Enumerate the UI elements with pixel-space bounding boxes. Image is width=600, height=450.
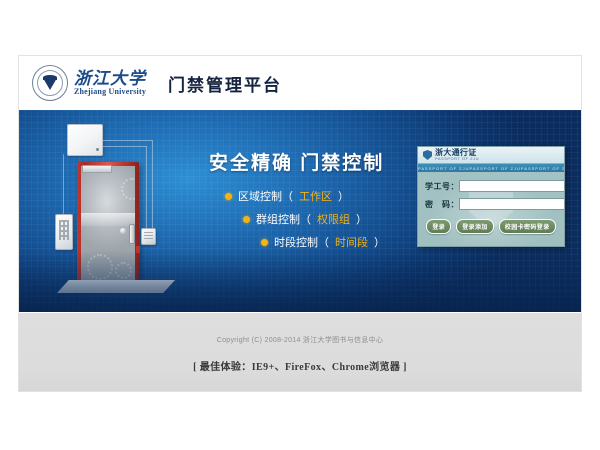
feature-tail: ） <box>356 211 367 227</box>
card-reader-icon <box>141 228 156 245</box>
keypad-reader-icon <box>55 214 73 250</box>
copyright-text: Copyright (C) 2008-2014 浙江大学图书与信息中心 <box>19 313 581 345</box>
feature-highlight: 时间段 <box>335 234 368 250</box>
wire-down-2 <box>146 146 148 234</box>
feature-item-area: 区域控制（工作区） <box>225 188 385 204</box>
banner-slogan: 安全精确 门禁控制 <box>209 148 384 175</box>
feature-item-timeslot: 时段控制（时间段） <box>261 234 385 250</box>
door-closer <box>82 165 112 173</box>
seal-bird-glyph <box>43 78 57 90</box>
university-logo: 浙江大学 Zhejiang University <box>32 65 146 101</box>
feature-list: 区域控制（工作区） 群组控制（权限组） 时段控制（时间段） <box>225 188 385 250</box>
page-title: 门禁管理平台 <box>168 71 282 96</box>
university-name-block: 浙江大学 Zhejiang University <box>74 70 146 97</box>
university-name-en: Zhejiang University <box>74 87 146 96</box>
feature-text: 群组控制（ <box>256 211 311 227</box>
feature-highlight: 权限组 <box>317 211 350 227</box>
login-button[interactable]: 登录 <box>426 219 451 234</box>
page-container: 浙江大学 Zhejiang University 门禁管理平台 <box>18 55 582 392</box>
door-leaf <box>81 166 135 284</box>
strip-text: PASSPORT OF ZJU <box>521 166 564 171</box>
browser-support-note: [ 最佳体验：IE9+、FireFox、Chrome浏览器 ] <box>19 358 581 373</box>
university-name-cn: 浙江大学 <box>74 70 146 88</box>
feature-tail: ） <box>338 188 349 204</box>
field-row-userid: 学工号： <box>425 180 557 192</box>
strip-text: PASSPORT OF ZJU <box>469 166 520 171</box>
userid-label: 学工号： <box>425 181 459 192</box>
zju-seal-icon <box>32 65 68 101</box>
floor-platform <box>57 280 175 293</box>
bullet-icon <box>261 239 268 246</box>
feature-tail: ） <box>374 234 385 250</box>
feature-text: 时段控制（ <box>274 234 329 250</box>
login-title-block: 浙大通行证 PASSPORT OF ZJU <box>435 149 479 161</box>
secured-door <box>77 162 139 284</box>
login-add-button[interactable]: 登录添加 <box>456 219 494 234</box>
gear-icon <box>115 262 132 279</box>
feature-highlight: 工作区 <box>299 188 332 204</box>
access-controller-box-icon <box>67 124 103 156</box>
campus-card-login-button[interactable]: 校园卡密码登录 <box>499 219 556 234</box>
login-button-row: 登录 登录添加 校园卡密码登录 <box>425 219 557 234</box>
field-row-password: 密 码： <box>425 198 557 210</box>
login-panel: 浙大通行证 PASSPORT OF ZJU PASSPORT OF ZJU PA… <box>417 146 565 247</box>
passport-strip: PASSPORT OF ZJU PASSPORT OF ZJU PASSPORT… <box>418 164 564 172</box>
feature-text: 区域控制（ <box>238 188 293 204</box>
login-form: 学工号： 密 码： 登录 登录添加 校园卡密码登录 <box>418 172 564 246</box>
strip-text: PASSPORT OF ZJU <box>418 166 469 171</box>
access-control-illustration <box>41 120 191 305</box>
wire-top-2 <box>101 146 147 148</box>
site-header: 浙江大学 Zhejiang University 门禁管理平台 <box>19 56 581 110</box>
userid-input[interactable] <box>459 180 565 192</box>
password-label: 密 码： <box>425 199 459 210</box>
feature-item-group: 群组控制（权限组） <box>243 211 385 227</box>
door-strike-plate <box>136 246 140 253</box>
bullet-icon <box>243 216 250 223</box>
login-title-en: PASSPORT OF ZJU <box>435 157 479 161</box>
bullet-icon <box>225 193 232 200</box>
wire-down-1 <box>152 140 154 236</box>
door-handle <box>129 224 135 244</box>
shield-icon <box>423 150 432 160</box>
wire-to-keypad <box>63 154 65 216</box>
gear-icon <box>87 254 113 280</box>
hero-banner: 安全精确 门禁控制 区域控制（工作区） 群组控制（权限组） 时段控制（时间段） … <box>19 110 581 312</box>
login-panel-header: 浙大通行证 PASSPORT OF ZJU <box>418 147 564 164</box>
gear-icon <box>121 178 135 200</box>
site-footer: Copyright (C) 2008-2014 浙江大学图书与信息中心 [ 最佳… <box>19 312 581 392</box>
door-knob <box>120 228 126 234</box>
wire-top-1 <box>101 140 153 142</box>
password-input[interactable] <box>459 198 565 210</box>
